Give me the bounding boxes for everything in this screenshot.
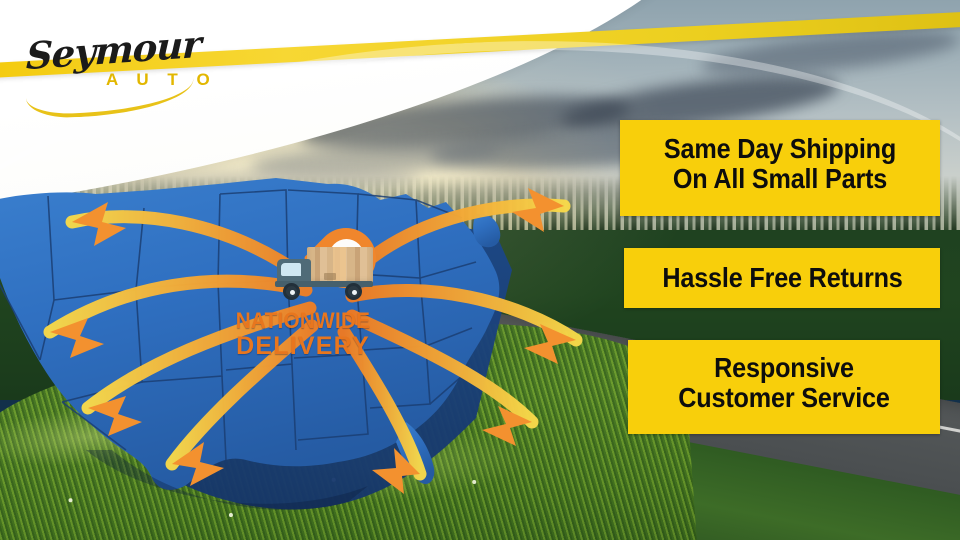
claim-box-same-day-shipping[interactable]: Same Day Shipping On All Small Parts xyxy=(620,120,940,216)
claim-box-hassle-free-returns[interactable]: Hassle Free Returns xyxy=(624,248,940,308)
delivery-line: DELIVERY xyxy=(228,334,378,359)
claim-line: Hassle Free Returns xyxy=(662,263,902,293)
usa-map-graphic: NATIONWIDE DELIVERY xyxy=(0,150,616,510)
truck-window xyxy=(281,263,301,276)
delivery-truck-icon xyxy=(271,245,381,307)
logo-subtitle: A U T O xyxy=(106,70,217,90)
truck-box-label xyxy=(324,273,336,280)
nationwide-line: NATIONWIDE xyxy=(233,310,374,332)
claim-line: Responsive xyxy=(653,353,916,383)
promo-banner: Seymour A U T O xyxy=(0,0,960,540)
claim-line: Customer Service xyxy=(653,383,916,413)
truck-wheel xyxy=(345,283,362,300)
brand-logo[interactable]: Seymour A U T O xyxy=(18,14,218,104)
truck-wheel xyxy=(283,283,300,300)
claim-box-responsive-customer-service[interactable]: Responsive Customer Service xyxy=(628,340,940,434)
claims-list: Same Day Shipping On All Small Parts Has… xyxy=(618,120,943,434)
claim-line: Same Day Shipping xyxy=(645,134,915,164)
claim-line: On All Small Parts xyxy=(645,164,915,194)
nationwide-delivery-text: NATIONWIDE DELIVERY xyxy=(228,310,378,359)
